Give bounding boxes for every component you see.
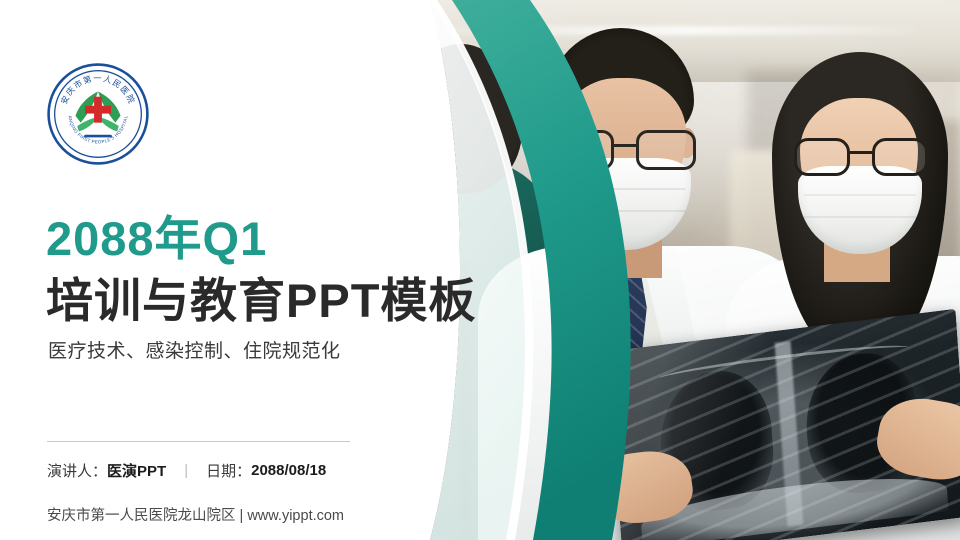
male-doctor-glasses — [552, 128, 700, 174]
slide-subtitle: 医疗技术、感染控制、住院规范化 — [48, 336, 341, 363]
glasses-bridge — [614, 144, 636, 147]
glasses-lens-right — [636, 130, 696, 170]
slide-meta: 演讲人： 医演PPT | 日期： 2088/08/18 — [47, 460, 326, 481]
date-label: 日期： — [206, 460, 251, 481]
slide-title-line-2: 培训与教育PPT模板 — [46, 262, 476, 331]
divider-rule — [47, 441, 350, 442]
glasses-lens-right — [872, 138, 928, 176]
photo-background — [400, 0, 960, 540]
hospital-logo: 安庆市第一人民医院 ANQING FIRST PEOPLE'S HOSPITAL — [46, 62, 150, 166]
slide-title-line-1: 2088年Q1 — [46, 200, 267, 269]
meta-separator: | — [184, 462, 188, 479]
speaker-value: 医演PPT — [107, 460, 166, 481]
slide-footer: 安庆市第一人民医院龙山院区 | www.yippt.com — [47, 504, 344, 525]
presentation-slide: 安庆市第一人民医院 ANQING FIRST PEOPLE'S HOSPITAL… — [0, 0, 960, 540]
cover-photo — [400, 0, 960, 540]
glasses-lens-left — [794, 138, 850, 176]
glasses-lens-left — [554, 130, 614, 170]
speaker-label: 演讲人： — [47, 460, 107, 481]
glasses-bridge — [850, 151, 872, 154]
female-doctor-glasses — [794, 136, 932, 180]
date-value: 2088/08/18 — [251, 462, 326, 479]
